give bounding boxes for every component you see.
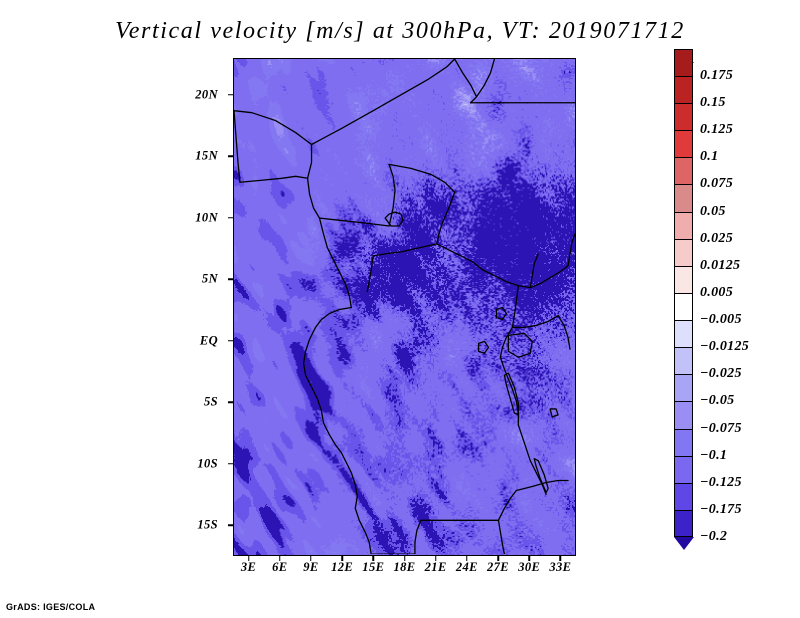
colorbar-swatch <box>674 49 693 76</box>
colorbar-swatch <box>674 429 693 456</box>
colorbar-swatch <box>674 510 693 537</box>
colorbar-swatch <box>674 320 693 347</box>
colorbar-swatch <box>674 212 693 239</box>
y-axis-tick-mark <box>228 402 233 404</box>
x-axis-tick-mark <box>279 556 281 561</box>
colorbar-swatch <box>674 130 693 157</box>
colorbar-tick-label: −0.2 <box>700 529 727 545</box>
colorbar-tick-label: −0.05 <box>700 393 734 409</box>
y-axis-tick-mark <box>228 94 233 96</box>
colorbar-tick-label: −0.075 <box>700 421 742 437</box>
map-plot-area <box>233 58 576 556</box>
colorbar-swatch <box>674 184 693 211</box>
colorbar-swatch <box>674 374 693 401</box>
y-axis-tick-label: EQ <box>200 333 218 348</box>
x-axis-tick-mark <box>435 556 437 561</box>
x-axis-tick-mark <box>560 556 562 561</box>
x-axis-tick-label: 24E <box>456 560 478 575</box>
page-title: Vertical velocity [m/s] at 300hPa, VT: 2… <box>0 18 800 45</box>
x-axis-tick-mark <box>528 556 530 561</box>
colorbar-tick-label: 0.15 <box>700 95 726 111</box>
colorbar-tick-label: −0.175 <box>700 502 742 518</box>
colorbar-tick-label: 0.025 <box>700 231 733 247</box>
colorbar-tick-label: 0.175 <box>700 68 733 84</box>
x-axis-tick-mark <box>466 556 468 561</box>
colorbar-swatch <box>674 157 693 184</box>
x-axis-tick-mark <box>341 556 343 561</box>
x-axis-tick-mark <box>373 556 375 561</box>
country-borders-overlay <box>234 59 575 554</box>
y-axis-tick-label: 10S <box>197 456 218 471</box>
x-axis-tick-mark <box>404 556 406 561</box>
y-axis-tick-label: 10N <box>195 210 218 225</box>
colorbar-tick-label: −0.025 <box>700 366 742 382</box>
colorbar-tick-label: −0.005 <box>700 312 742 328</box>
colorbar-tick-label: −0.1 <box>700 448 727 464</box>
colorbar-swatch <box>674 103 693 130</box>
y-axis-tick-label: 15N <box>195 149 218 164</box>
colorbar-tick-label: 0.0125 <box>700 258 740 274</box>
x-axis-tick-mark <box>248 556 250 561</box>
y-axis-tick-mark <box>228 525 233 527</box>
colorbar-tick-label: 0.005 <box>700 285 733 301</box>
y-axis-tick-mark <box>228 340 233 342</box>
colorbar-under-arrow <box>674 537 694 550</box>
colorbar <box>674 63 693 550</box>
colorbar-swatch <box>674 293 693 320</box>
colorbar-swatch <box>674 347 693 374</box>
y-axis-tick-mark <box>228 156 233 158</box>
colorbar-tick-label: 0.075 <box>700 176 733 192</box>
colorbar-swatch <box>674 76 693 103</box>
x-axis-tick-mark <box>310 556 312 561</box>
y-axis-tick-label: 5N <box>202 272 218 287</box>
x-axis-tick-label: 9E <box>303 560 318 575</box>
y-axis-tick-label: 20N <box>195 87 218 102</box>
y-axis-tick-mark <box>228 463 233 465</box>
y-axis-tick-label: 15S <box>197 518 218 533</box>
grads-attribution: GrADS: IGES/COLA <box>6 602 95 612</box>
x-axis-tick-label: 6E <box>272 560 287 575</box>
y-axis-tick-mark <box>228 279 233 281</box>
x-axis-tick-label: 3E <box>241 560 256 575</box>
x-axis-tick-label: 12E <box>331 560 353 575</box>
x-axis-tick-label: 21E <box>425 560 447 575</box>
x-axis-tick-label: 33E <box>549 560 571 575</box>
colorbar-swatch <box>674 483 693 510</box>
x-axis-tick-label: 15E <box>362 560 384 575</box>
x-axis-tick-mark <box>497 556 499 561</box>
colorbar-swatch <box>674 239 693 266</box>
x-axis-tick-label: 18E <box>393 560 415 575</box>
colorbar-tick-label: −0.125 <box>700 475 742 491</box>
y-axis-tick-label: 5S <box>204 395 218 410</box>
x-axis-tick-label: 30E <box>518 560 540 575</box>
colorbar-tick-label: 0.1 <box>700 149 718 165</box>
colorbar-swatch <box>674 401 693 428</box>
colorbar-swatch <box>674 456 693 483</box>
colorbar-tick-label: 0.125 <box>700 122 733 138</box>
colorbar-tick-label: −0.0125 <box>700 339 749 355</box>
x-axis-tick-label: 27E <box>487 560 509 575</box>
y-axis-tick-mark <box>228 217 233 219</box>
colorbar-tick-label: 0.05 <box>700 204 726 220</box>
colorbar-swatch <box>674 266 693 293</box>
